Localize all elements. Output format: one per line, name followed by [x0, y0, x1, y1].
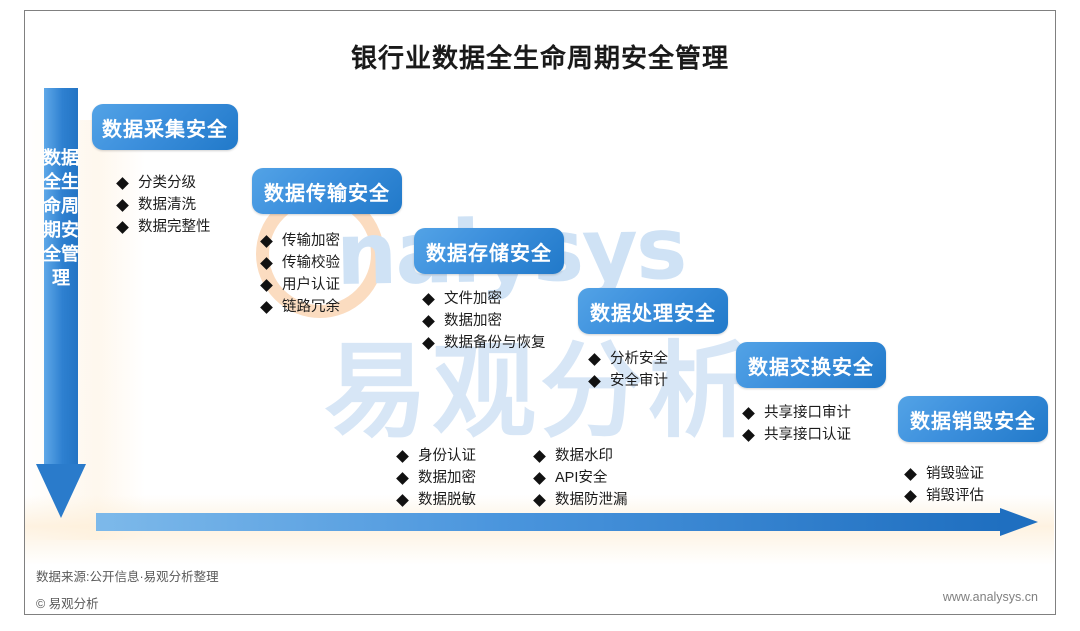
- stage-label-2: 数据传输安全: [264, 177, 390, 206]
- list-item: 数据水印: [535, 445, 628, 467]
- bullet-label: 传输加密: [282, 230, 340, 252]
- bullet-label: 数据完整性: [138, 216, 211, 238]
- bullet-label: 传输校验: [282, 252, 340, 274]
- stage-box-3[interactable]: 数据存储安全: [414, 228, 564, 274]
- list-item: 数据脱敏: [398, 489, 476, 511]
- diamond-bullet-icon: [742, 429, 755, 442]
- stage-box-1[interactable]: 数据采集安全: [92, 104, 238, 150]
- diamond-bullet-icon: [533, 472, 546, 485]
- bullet-label: 链路冗余: [282, 296, 340, 318]
- list-item: 文件加密: [424, 288, 546, 310]
- bullet-label: 安全审计: [610, 370, 668, 392]
- stage-bullets-1: 分类分级 数据清洗 数据完整性: [118, 172, 211, 238]
- bullet-label: 共享接口审计: [764, 402, 851, 424]
- bullet-label: 数据水印: [555, 445, 613, 467]
- stage-box-6[interactable]: 数据销毁安全: [898, 396, 1048, 442]
- stage-box-2[interactable]: 数据传输安全: [252, 168, 402, 214]
- stage-bullets-5: 共享接口审计 共享接口认证: [744, 402, 851, 446]
- diamond-bullet-icon: [588, 353, 601, 366]
- diamond-bullet-icon: [260, 235, 273, 248]
- infographic-canvas: nalysys 易观分析 银行业数据全生命周期安全管理 数据全生命周期安全管理 …: [0, 0, 1080, 631]
- list-item: 传输加密: [262, 230, 340, 252]
- list-item: 身份认证: [398, 445, 476, 467]
- diamond-bullet-icon: [396, 472, 409, 485]
- stage-label-5: 数据交换安全: [748, 351, 874, 380]
- bullet-label: 文件加密: [444, 288, 502, 310]
- vertical-arrow-head-icon: [36, 464, 86, 518]
- list-item: 用户认证: [262, 274, 340, 296]
- diamond-bullet-icon: [116, 221, 129, 234]
- bullet-label: 数据脱敏: [418, 489, 476, 511]
- bullet-label: 共享接口认证: [764, 424, 851, 446]
- list-item: 数据清洗: [118, 194, 211, 216]
- vertical-arrow-label: 数据全生命周期安全管理: [36, 146, 86, 290]
- list-item: 数据加密: [424, 310, 546, 332]
- list-item: 数据防泄漏: [535, 489, 628, 511]
- horizontal-arrow-shaft: [96, 513, 1002, 531]
- common-controls-column-1: 身份认证 数据加密 数据脱敏: [398, 445, 476, 511]
- list-item: 链路冗余: [262, 296, 340, 318]
- bullet-label: 数据防泄漏: [555, 489, 628, 511]
- bullet-label: 身份认证: [418, 445, 476, 467]
- bullet-label: 数据加密: [418, 467, 476, 489]
- list-item: 数据备份与恢复: [424, 332, 546, 354]
- diamond-bullet-icon: [533, 450, 546, 463]
- list-item: 共享接口认证: [744, 424, 851, 446]
- copyright-note: © 易观分析: [36, 593, 99, 612]
- bullet-label: 用户认证: [282, 274, 340, 296]
- stage-label-3: 数据存储安全: [426, 237, 552, 266]
- list-item: 销毁评估: [906, 485, 984, 507]
- diamond-bullet-icon: [742, 407, 755, 420]
- diamond-bullet-icon: [116, 199, 129, 212]
- website-url: www.analysys.cn: [943, 590, 1038, 604]
- diamond-bullet-icon: [116, 177, 129, 190]
- timeline-horizontal-arrow: [96, 508, 1042, 536]
- diamond-bullet-icon: [260, 279, 273, 292]
- stage-bullets-6: 销毁验证 销毁评估: [906, 463, 984, 507]
- horizontal-arrow-head-icon: [1000, 508, 1038, 536]
- stage-box-4[interactable]: 数据处理安全: [578, 288, 728, 334]
- diamond-bullet-icon: [260, 301, 273, 314]
- diamond-bullet-icon: [904, 468, 917, 481]
- bullet-label: 分类分级: [138, 172, 196, 194]
- diamond-bullet-icon: [396, 450, 409, 463]
- list-item: 安全审计: [590, 370, 668, 392]
- list-item: 传输校验: [262, 252, 340, 274]
- bullet-label: 销毁评估: [926, 485, 984, 507]
- diamond-bullet-icon: [396, 494, 409, 507]
- diamond-bullet-icon: [904, 490, 917, 503]
- bullet-label: 销毁验证: [926, 463, 984, 485]
- list-item: 共享接口审计: [744, 402, 851, 424]
- diamond-bullet-icon: [422, 293, 435, 306]
- list-item: 数据完整性: [118, 216, 211, 238]
- bullet-label: 分析安全: [610, 348, 668, 370]
- list-item: 分析安全: [590, 348, 668, 370]
- list-item: 分类分级: [118, 172, 211, 194]
- stage-box-5[interactable]: 数据交换安全: [736, 342, 886, 388]
- stage-label-1: 数据采集安全: [102, 113, 228, 142]
- list-item: 销毁验证: [906, 463, 984, 485]
- list-item: API安全: [535, 467, 628, 489]
- bullet-label: 数据备份与恢复: [444, 332, 546, 354]
- lifecycle-vertical-arrow: 数据全生命周期安全管理: [36, 88, 86, 518]
- diamond-bullet-icon: [422, 315, 435, 328]
- bullet-label: 数据加密: [444, 310, 502, 332]
- list-item: 数据加密: [398, 467, 476, 489]
- bullet-label: API安全: [555, 467, 607, 489]
- stage-bullets-4: 分析安全 安全审计: [590, 348, 668, 392]
- stage-label-4: 数据处理安全: [590, 297, 716, 326]
- diamond-bullet-icon: [533, 494, 546, 507]
- bullet-label: 数据清洗: [138, 194, 196, 216]
- common-controls-column-2: 数据水印 API安全 数据防泄漏: [535, 445, 628, 511]
- diamond-bullet-icon: [422, 337, 435, 350]
- stage-bullets-2: 传输加密 传输校验 用户认证 链路冗余: [262, 230, 340, 318]
- data-source-note: 数据来源:公开信息·易观分析整理: [36, 566, 219, 585]
- page-title: 银行业数据全生命周期安全管理: [0, 38, 1080, 75]
- stage-label-6: 数据销毁安全: [910, 405, 1036, 434]
- diamond-bullet-icon: [588, 375, 601, 388]
- stage-bullets-3: 文件加密 数据加密 数据备份与恢复: [424, 288, 546, 354]
- diamond-bullet-icon: [260, 257, 273, 270]
